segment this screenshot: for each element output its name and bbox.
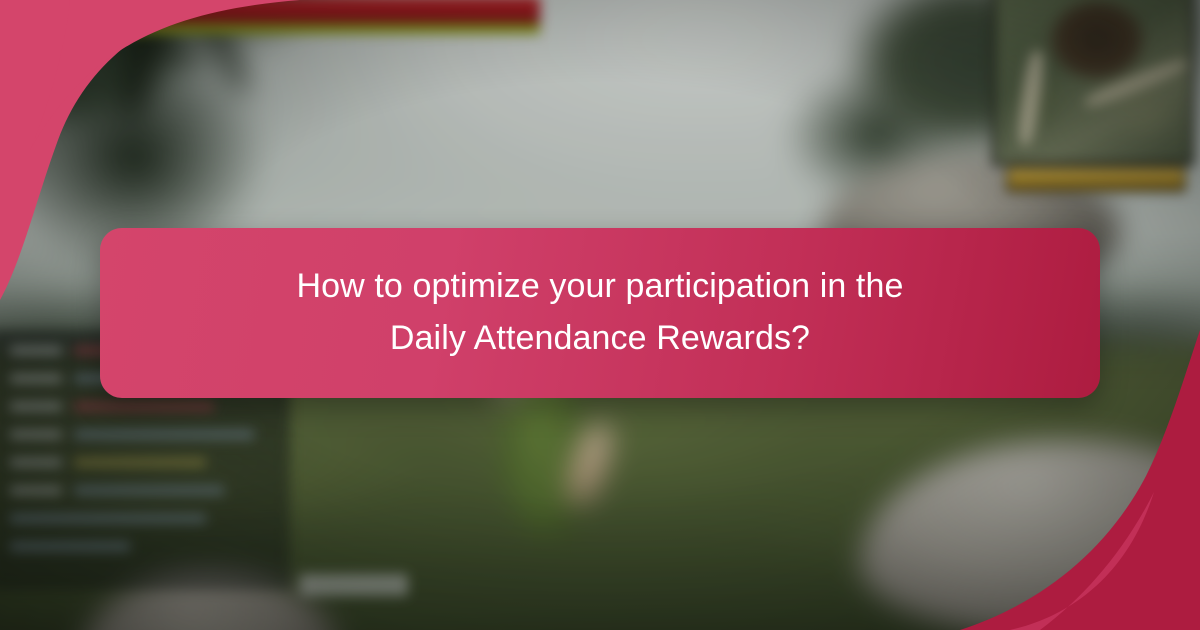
minimap	[992, 0, 1194, 166]
headline-banner: How to optimize your participation in th…	[100, 228, 1100, 398]
stamina-bar	[110, 24, 540, 34]
banner-canvas: How to optimize your participation in th…	[0, 0, 1200, 630]
headline-line-1: How to optimize your participation in th…	[297, 261, 904, 313]
health-bar	[120, 0, 540, 24]
headline-text: How to optimize your participation in th…	[249, 261, 952, 364]
minimap-road	[1082, 55, 1190, 111]
minimap-road	[1016, 50, 1047, 148]
headline-line-2: Daily Attendance Rewards?	[297, 313, 904, 365]
hotbar-slot	[300, 574, 408, 596]
minimap-progress-bar	[1006, 166, 1186, 192]
